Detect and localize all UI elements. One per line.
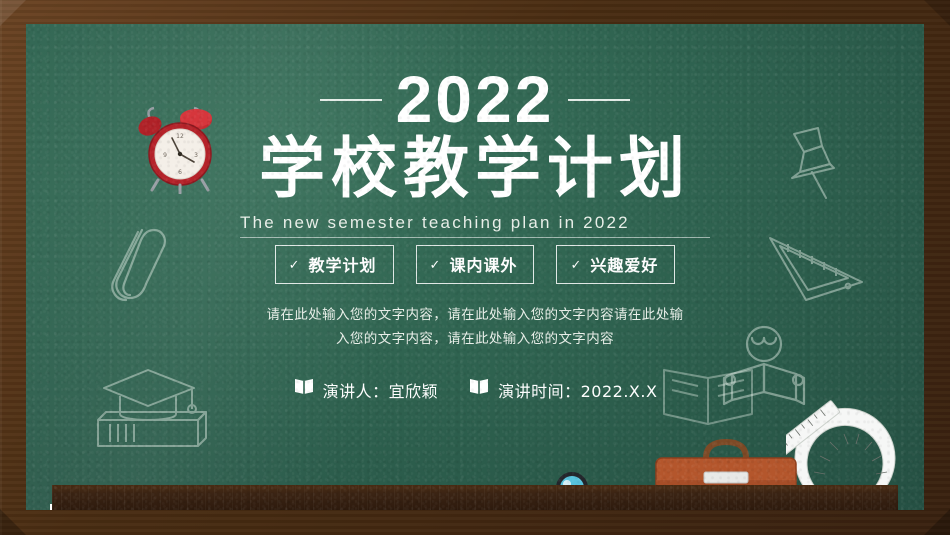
- subtitle-divider: [240, 237, 710, 238]
- footer-speaker-label: 演讲人：宜欣颖: [323, 378, 439, 402]
- badge-teaching-plan[interactable]: ✓ 教学计划: [275, 245, 394, 284]
- badge-label: 课内课外: [449, 252, 517, 276]
- subtitle-block: The new semester teaching plan in 2022: [240, 211, 710, 236]
- briefcase-decoration: [650, 428, 802, 510]
- open-book-sketch-icon: [652, 364, 764, 430]
- badge-label: 兴趣爱好: [590, 252, 658, 276]
- svg-text:12: 12: [176, 133, 184, 140]
- subtitle-text: The new semester teaching plan in 2022: [240, 211, 710, 236]
- paperclip-sketch-icon: [98, 216, 168, 312]
- check-icon: ✓: [289, 258, 300, 271]
- badge-label: 教学计划: [309, 252, 377, 276]
- presentation-slide: 123 69: [0, 0, 950, 535]
- year-dash-left: [320, 99, 382, 101]
- footer-datetime-label: 演讲时间：2022.X.X: [498, 378, 657, 402]
- badge-interests-hobbies[interactable]: ✓ 兴趣爱好: [556, 245, 675, 284]
- triangle-ruler-sketch-icon: [762, 224, 872, 320]
- year-heading-row: 2022: [320, 68, 631, 131]
- svg-text:9: 9: [163, 152, 167, 159]
- graduation-cap-books-sketch-icon: [84, 354, 214, 464]
- footer-datetime: 演讲时间：2022.X.X: [468, 378, 657, 402]
- alarm-clock-decoration: 123 69: [134, 102, 222, 194]
- page-title: 学校教学计划: [259, 133, 691, 204]
- chalk-tray-wood: [52, 485, 898, 510]
- protractor-decoration: [786, 392, 906, 504]
- open-book-magnifier-decoration: [542, 472, 666, 510]
- body-placeholder-text: 请在此处输入您的文字内容，请在此处输入您的文字内容请在此处输入您的文字内容，请在…: [265, 304, 685, 351]
- footer-speaker: 演讲人：宜欣颖: [293, 378, 439, 402]
- person-reading-sketch-icon: [712, 324, 816, 408]
- pushpin-sketch-icon: [778, 120, 852, 208]
- footer-meta-row: 演讲人：宜欣颖 演讲时间：2022.X.X: [293, 378, 658, 402]
- open-book-icon: [293, 378, 315, 401]
- slide-content: 2022 学校教学计划 The new semester teaching pl…: [26, 24, 924, 510]
- check-icon: ✓: [570, 258, 581, 271]
- pink-chalk-decoration: [291, 508, 334, 510]
- chalkboard-surface: 123 69: [26, 24, 924, 510]
- check-icon: ✓: [430, 258, 441, 271]
- badge-in-and-out-class[interactable]: ✓ 课内课外: [416, 245, 535, 284]
- open-book-icon: [468, 378, 490, 401]
- year-heading: 2022: [396, 68, 555, 131]
- year-dash-right: [568, 99, 630, 101]
- badge-row: ✓ 教学计划 ✓ 课内课外 ✓ 兴趣爱好: [275, 245, 676, 284]
- chalkboard-sheen: [26, 24, 623, 510]
- svg-text:3: 3: [194, 152, 198, 159]
- svg-text:6: 6: [178, 169, 182, 176]
- ruler-decoration: [50, 502, 278, 510]
